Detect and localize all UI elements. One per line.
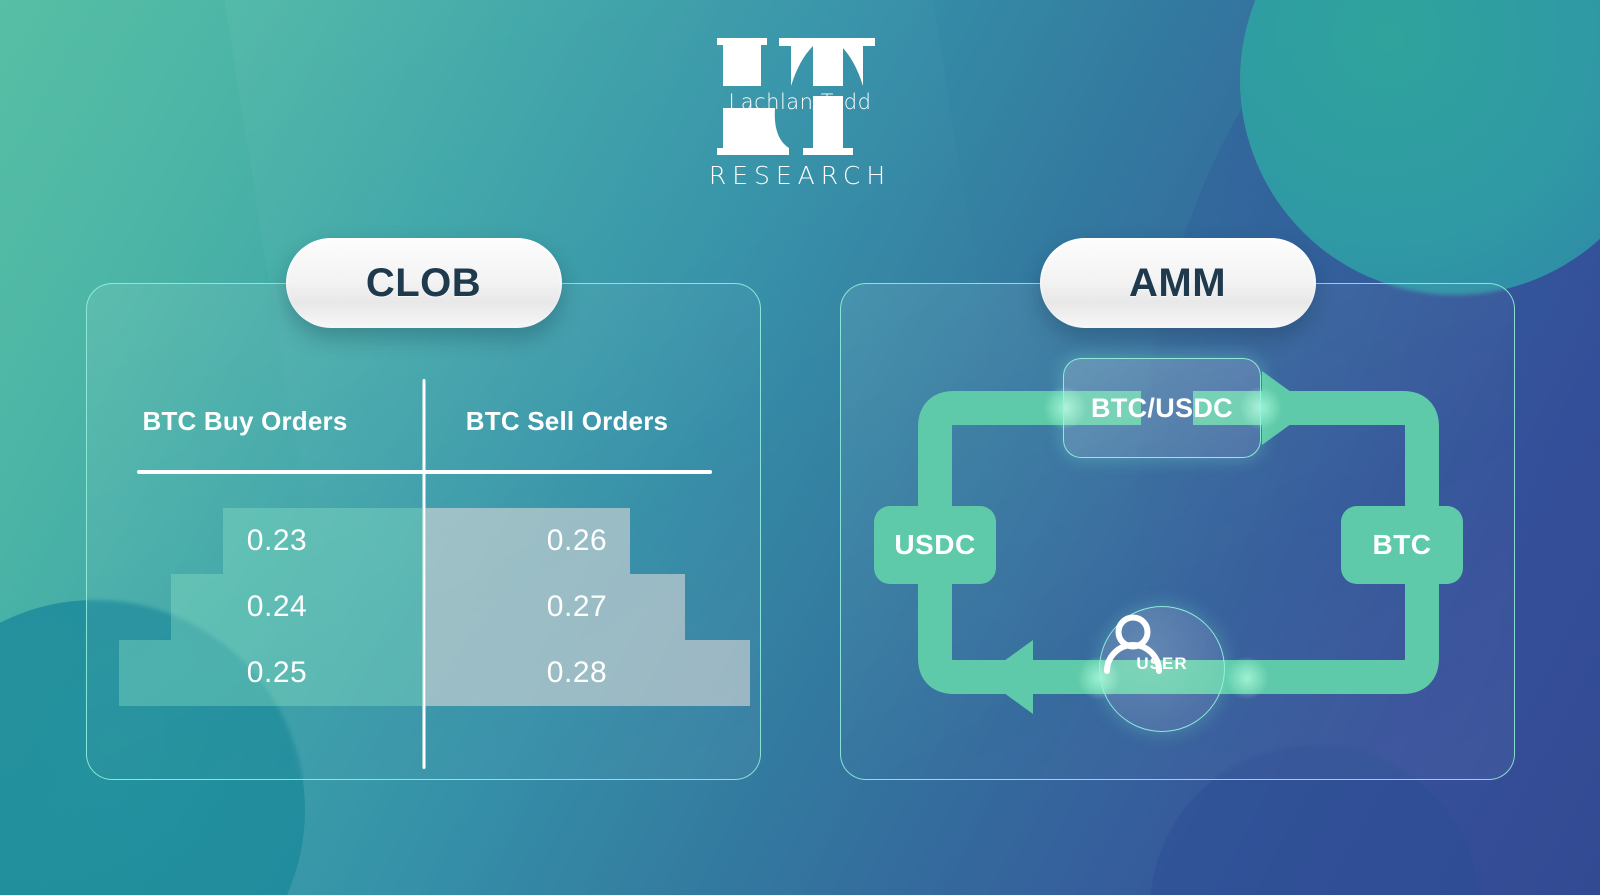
column-header-sell: BTC Sell Orders bbox=[427, 406, 707, 437]
logo-subtitle: RESEARCH bbox=[709, 161, 891, 190]
buy-order-price: 0.25 bbox=[187, 640, 367, 706]
infographic-canvas: Lachlan Todd RESEARCH CLOB BTC Buy Order… bbox=[0, 0, 1600, 895]
buy-order-row: 0.25 bbox=[99, 640, 424, 706]
panel-amm: AMM bbox=[840, 283, 1515, 780]
amm-flow-diagram: BTC/USDC USDC BTC USER bbox=[841, 284, 1514, 779]
logo-monogram-mark: Lachlan Todd bbox=[717, 38, 883, 156]
brand-logo: Lachlan Todd RESEARCH bbox=[0, 38, 1600, 188]
sell-order-price: 0.27 bbox=[487, 574, 667, 640]
liquidity-pool-node[interactable]: BTC/USDC bbox=[1063, 358, 1261, 458]
sell-order-price: 0.26 bbox=[487, 508, 667, 574]
sell-order-row: 0.28 bbox=[425, 640, 750, 706]
token-node-btc[interactable]: BTC bbox=[1341, 506, 1463, 584]
sell-order-row: 0.27 bbox=[425, 574, 750, 640]
sell-order-price: 0.28 bbox=[487, 640, 667, 706]
buy-order-price: 0.23 bbox=[187, 508, 367, 574]
sell-order-row: 0.26 bbox=[425, 508, 750, 574]
buy-order-row: 0.24 bbox=[99, 574, 424, 640]
token-node-usdc[interactable]: USDC bbox=[874, 506, 996, 584]
user-icon bbox=[1100, 613, 1166, 675]
user-node[interactable]: USER bbox=[1099, 606, 1225, 732]
panel-clob: CLOB BTC Buy Orders BTC Sell Orders 0.23… bbox=[86, 283, 761, 780]
arrow-left-icon bbox=[982, 640, 1033, 714]
arrow-right-icon bbox=[1262, 371, 1313, 445]
buy-order-row: 0.23 bbox=[99, 508, 424, 574]
order-book: BTC Buy Orders BTC Sell Orders 0.23 0.24… bbox=[87, 284, 760, 779]
liquidity-pool-label: BTC/USDC bbox=[1091, 393, 1233, 424]
logo-name: Lachlan Todd bbox=[717, 90, 883, 114]
token-label-usdc: USDC bbox=[894, 529, 975, 561]
token-label-btc: BTC bbox=[1372, 529, 1431, 561]
column-header-buy: BTC Buy Orders bbox=[105, 406, 385, 437]
buy-order-price: 0.24 bbox=[187, 574, 367, 640]
